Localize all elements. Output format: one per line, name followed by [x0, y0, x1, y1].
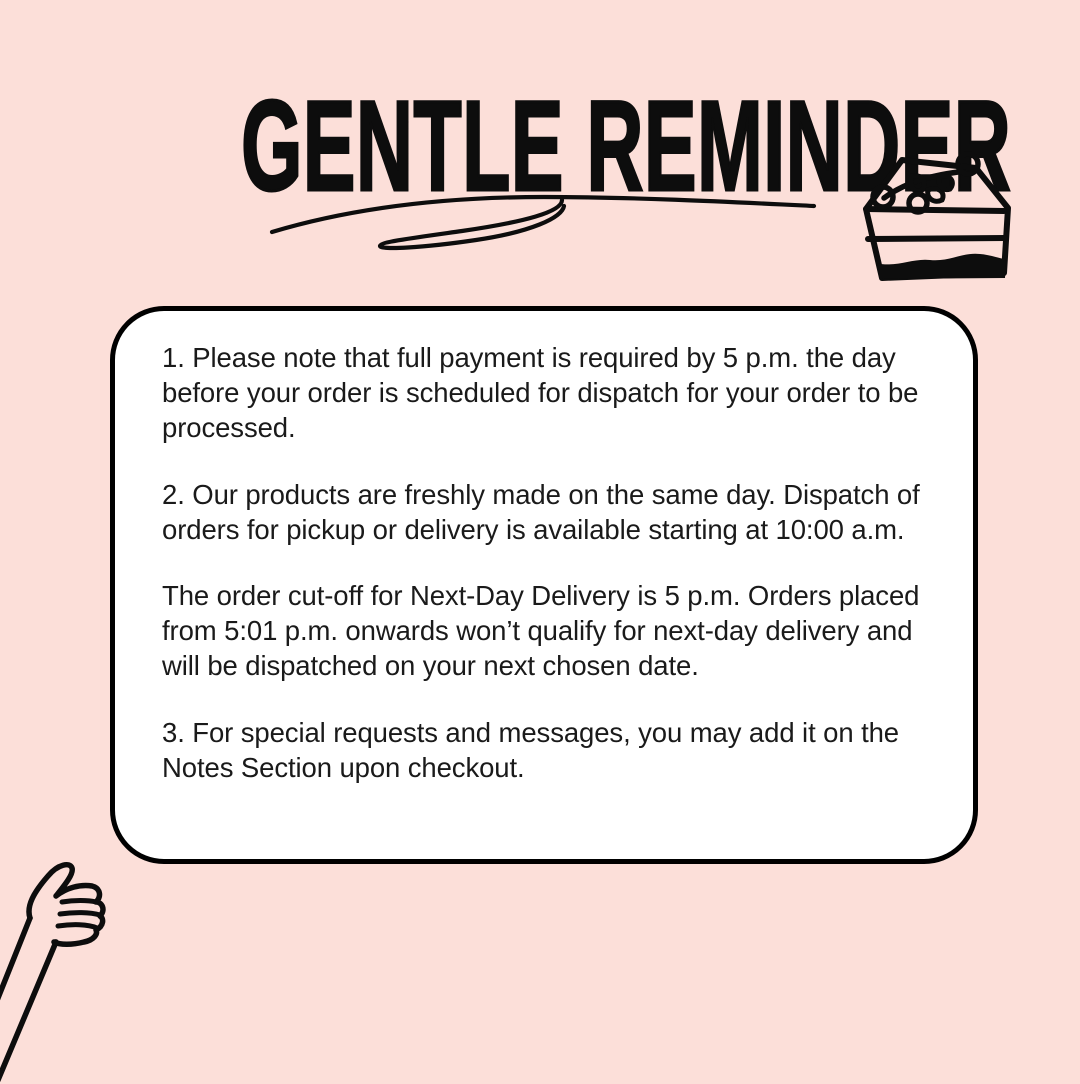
notice-paragraph-1: 1. Please note that full payment is requ… [162, 340, 931, 446]
poster-canvas: GENTLE REMINDER 1. Please note that full… [0, 0, 1080, 1080]
notice-paragraph-3: The order cut-off for Next-Day Delivery … [162, 578, 931, 684]
thumbs-up-hand-icon [0, 852, 146, 1084]
notice-paragraph-2: 2. Our products are freshly made on the … [162, 477, 931, 547]
notice-card: 1. Please note that full payment is requ… [110, 306, 978, 864]
cake-slice-icon [854, 132, 1026, 290]
swoosh-underline-icon [262, 186, 822, 258]
notice-body: 1. Please note that full payment is requ… [162, 340, 931, 785]
notice-paragraph-4: 3. For special requests and messages, yo… [162, 715, 931, 785]
